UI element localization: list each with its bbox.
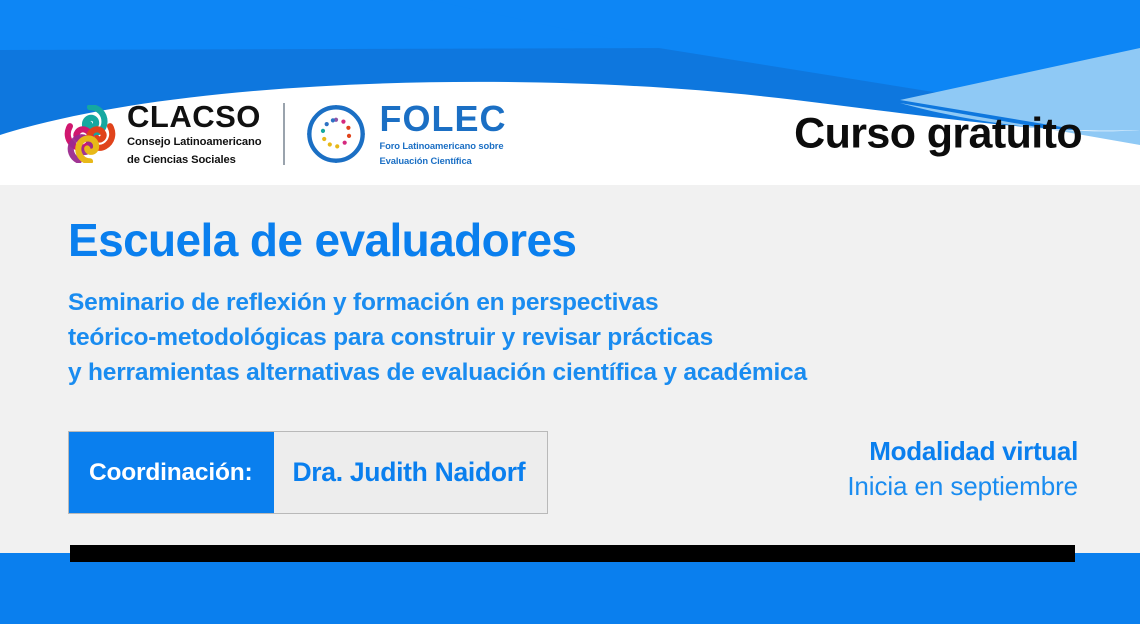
subtitle-line-2: teórico-metodológicas para construir y r… [68, 320, 1088, 355]
folec-name: FOLEC [379, 101, 506, 137]
black-divider-rule [70, 545, 1075, 562]
clacso-tagline-line2: de Ciencias Sociales [127, 153, 261, 167]
modality-block: Modalidad virtual Inicia en septiembre [847, 435, 1078, 504]
footer-band [0, 553, 1140, 624]
clacso-logo: CLACSO Consejo Latinoamericano de Cienci… [62, 101, 261, 167]
modality-start-date: Inicia en septiembre [847, 469, 1078, 504]
folec-wordmark: FOLEC Foro Latinoamericano sobre Evaluac… [379, 101, 506, 167]
header-row: CLACSO Consejo Latinoamericano de Cienci… [0, 88, 1140, 180]
coordination-box: Coordinación: Dra. Judith Naidorf [68, 431, 548, 514]
modality-type: Modalidad virtual [847, 435, 1078, 469]
clacso-flower-icon [62, 105, 118, 163]
folec-logo: FOLEC Foro Latinoamericano sobre Evaluac… [305, 101, 506, 167]
folec-tagline-line2: Evaluación Científica [379, 155, 506, 167]
free-course-badge: Curso gratuito [794, 110, 1082, 159]
folec-circle-icon [305, 103, 367, 165]
poster-canvas: CLACSO Consejo Latinoamericano de Cienci… [0, 0, 1140, 624]
logos-group: CLACSO Consejo Latinoamericano de Cienci… [62, 88, 506, 180]
clacso-wordmark: CLACSO Consejo Latinoamericano de Cienci… [127, 101, 261, 167]
coordination-label: Coordinación: [69, 432, 274, 513]
body-area: Escuela de evaluadores Seminario de refl… [0, 185, 1140, 553]
subtitle-line-1: Seminario de reflexión y formación en pe… [68, 285, 1088, 320]
page-subtitle: Seminario de reflexión y formación en pe… [68, 285, 1088, 390]
coordination-value: Dra. Judith Naidorf [274, 432, 547, 513]
subtitle-line-3: y herramientas alternativas de evaluació… [68, 355, 1088, 390]
folec-dot-ring [321, 118, 351, 149]
clacso-name: CLACSO [127, 101, 261, 132]
clacso-tagline-line1: Consejo Latinoamericano [127, 135, 261, 149]
logo-divider [283, 103, 285, 165]
folec-tagline-line1: Foro Latinoamericano sobre [379, 140, 506, 152]
page-title: Escuela de evaluadores [68, 217, 576, 263]
